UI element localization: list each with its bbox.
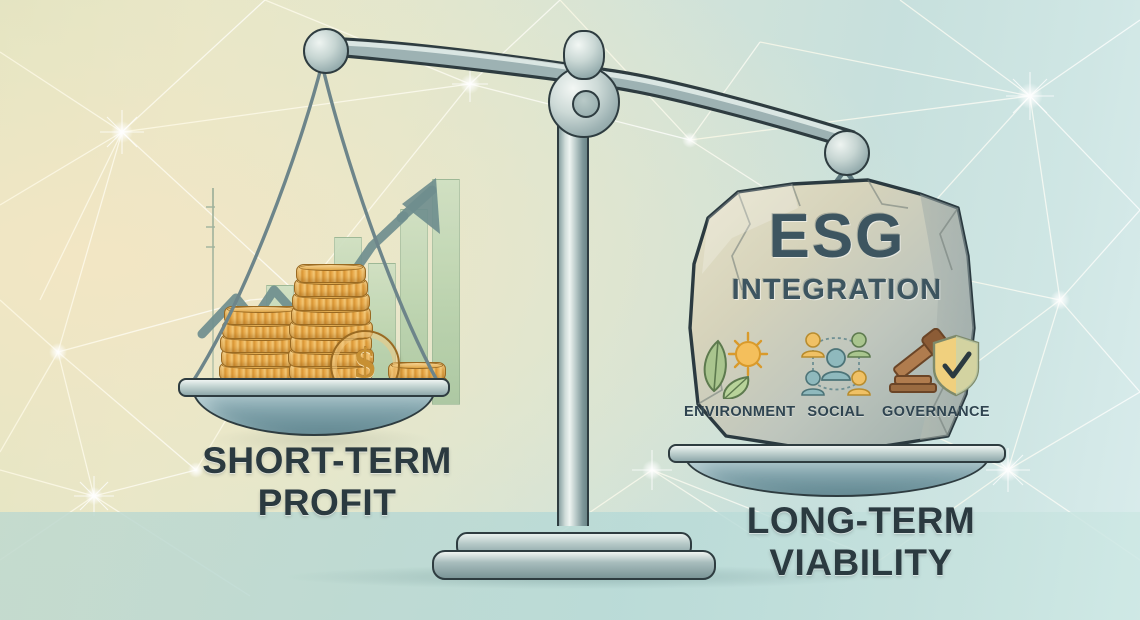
left-pan-rim: [178, 378, 450, 397]
gavel-shield-icon: [882, 328, 982, 400]
caption-short-term-profit: SHORT-TERM PROFIT: [182, 440, 472, 524]
esg-pillar-social: SOCIAL: [786, 328, 886, 420]
rock-subtitle: INTEGRATION: [706, 274, 968, 307]
caption-long-term-viability: LONG-TERM VIABILITY: [716, 500, 1006, 584]
scale-base-lower: [432, 550, 716, 580]
esg-pillar-label: GOVERNANCE: [882, 404, 982, 420]
left-hanger-knob: [303, 28, 349, 74]
esg-pillar-governance: GOVERNANCE: [882, 328, 982, 420]
rock-title: ESG: [732, 206, 942, 268]
right-pan-rim: [668, 444, 1006, 463]
illustration-canvas: $: [0, 0, 1140, 620]
esg-pillar-environment: ENVIRONMENT: [684, 328, 784, 420]
people-network-icon: [786, 328, 886, 400]
leaf-sun-icon: [684, 328, 784, 400]
rock-content: ESG INTEGRATION EN: [672, 178, 1002, 458]
fulcrum-pin: [572, 90, 600, 118]
right-hanger-knob: [824, 130, 870, 176]
esg-pillar-label: SOCIAL: [786, 404, 886, 420]
scale-finial: [563, 30, 605, 80]
scale-post: [557, 96, 589, 526]
esg-pillar-label: ENVIRONMENT: [684, 404, 784, 420]
